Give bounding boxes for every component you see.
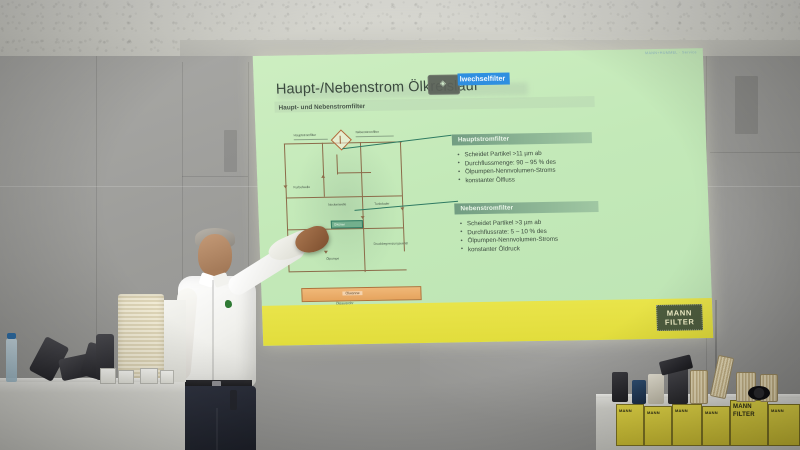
slide-subtitle: Haupt- und Nebenstromfilter (278, 103, 365, 112)
pocket-item (230, 390, 237, 410)
logo-line-2: FILTER (665, 317, 695, 327)
flow-arrow (321, 175, 325, 178)
literature-card (140, 368, 158, 384)
flow-arrow (324, 251, 328, 254)
shirt-placket (212, 280, 214, 384)
product-box: MANN (768, 404, 800, 446)
oil-cooler-label: Ölkühler (334, 222, 345, 226)
product-box: MANN (616, 404, 644, 446)
box-label-4: MANN (705, 411, 718, 416)
presenter-trousers (180, 386, 256, 450)
mann-filter-logo: MANN FILTER (656, 304, 703, 331)
spin-on-filter (612, 372, 628, 402)
box-label-3: MANN (675, 409, 688, 414)
spin-on-filter (632, 380, 646, 404)
product-box-large: MANN FILTER (730, 400, 768, 446)
callout-bullets-hauptstromfilter: Scheidet Partikel >11 µm ab Durchflussme… (456, 150, 556, 186)
diagram-label: Turbolader (374, 202, 389, 206)
product-box: MANN (672, 404, 702, 446)
callout-header-nebenstromfilter: Nebenstromfilter (454, 201, 598, 215)
projected-slide: MANN+HUMMEL · Service Haupt-/Nebenstrom … (253, 48, 714, 346)
wall-recess-left (224, 130, 237, 172)
oil-circuit-diagram: Hauptstromfilter Nebenstromfilter Kurbel… (273, 123, 440, 311)
diagram-label: Druckbegrenzungsventil (374, 241, 408, 246)
screenshot-root: MANN+HUMMEL · Service Haupt-/Nebenstrom … (0, 0, 800, 450)
box-label-1: MANN (619, 409, 632, 414)
literature-card (160, 370, 174, 384)
flow-arrow (400, 207, 404, 210)
bullet: konstanter Öldruck (460, 244, 559, 254)
flow-arrow (361, 216, 365, 219)
diagram-label: Ölpumpe (326, 257, 339, 261)
diagram-label: Nockenwelle (328, 202, 346, 206)
box-label-7: MANN (771, 409, 784, 414)
callout-bullets-nebenstromfilter: Scheidet Partikel >3 µm ab Durchflussrat… (459, 219, 559, 255)
o-ring-kit (748, 386, 770, 400)
wall-seam (182, 176, 248, 177)
box-label-5: MANN (733, 405, 752, 410)
filter-element-open (690, 370, 708, 404)
spin-on-filter (648, 374, 664, 404)
slide-footer-band (262, 298, 713, 346)
callout-header-hauptstromfilter: Hauptstromfilter (452, 132, 592, 145)
trouser-seam (216, 408, 218, 450)
left-table (0, 382, 185, 450)
literature-card (100, 368, 116, 384)
diagram-label: Nebenstromfilter (355, 130, 379, 134)
presenter (168, 228, 288, 450)
flow-arrow (283, 185, 287, 188)
text-selection-highlight: lwechselfilter (457, 73, 509, 86)
oil-pan: Ölwanne (301, 286, 422, 302)
product-box: MANN (644, 406, 672, 446)
diagram-label: Kurbelwelle (293, 185, 310, 189)
logo-line-1: MANN (667, 308, 693, 317)
box-label-2: MANN (647, 411, 660, 416)
bullet: konstanter Ölfluss (457, 176, 556, 186)
oil-cooler-box: Ölkühler (331, 220, 363, 229)
slide-surface: MANN+HUMMEL · Service Haupt-/Nebenstrom … (253, 48, 714, 346)
callout-heading: Nebenstromfilter (460, 204, 513, 212)
shirt-logo (225, 300, 232, 308)
callout-heading: Hauptstromfilter (458, 135, 510, 143)
diagram-label: Hauptstromfilter (294, 133, 317, 137)
pleated-filter-element (118, 294, 164, 378)
bottle-cap (7, 333, 16, 339)
box-label-6: FILTER (733, 413, 755, 418)
oil-pan-label: Ölwanne (342, 291, 362, 295)
cursor-icon: ◈ (439, 80, 447, 88)
wall-seam (710, 152, 800, 153)
water-bottle (6, 338, 17, 382)
wall-recess-right (735, 76, 758, 134)
literature-card (118, 370, 134, 384)
product-box: MANN (702, 406, 730, 446)
slide-top-note: MANN+HUMMEL · Service (645, 50, 697, 55)
